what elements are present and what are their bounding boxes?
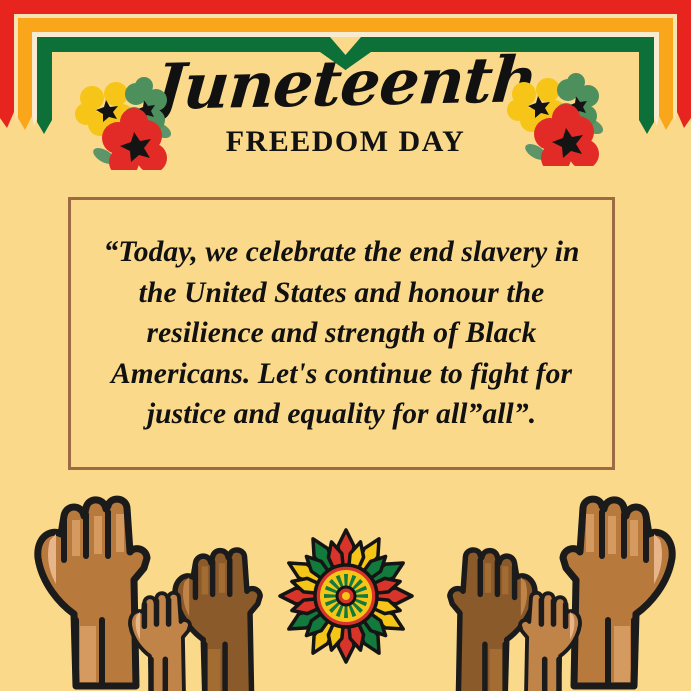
quote-text: “Today, we celebrate the end slavery in … [71,232,612,434]
frame-stripe-cream-top-1 [0,14,691,18]
pan-african-flower-icon [276,526,416,666]
flower-cluster-icon [74,72,178,170]
raised-fists-icon [432,494,691,691]
frame-stripe-cream-top-2 [0,32,691,37]
quote-box: “Today, we celebrate the end slavery in … [68,197,615,470]
frame-stripe-red-top [0,0,691,14]
raised-fists-icon [16,494,278,691]
page-title: Juneteenth [152,48,539,119]
flower-cluster-icon [506,68,610,166]
fist-large [563,499,672,686]
juneteenth-poster: Juneteenth FREEDOM DAY [0,0,691,691]
fist-large [38,499,147,686]
frame-stripe-orange-top [0,18,691,32]
